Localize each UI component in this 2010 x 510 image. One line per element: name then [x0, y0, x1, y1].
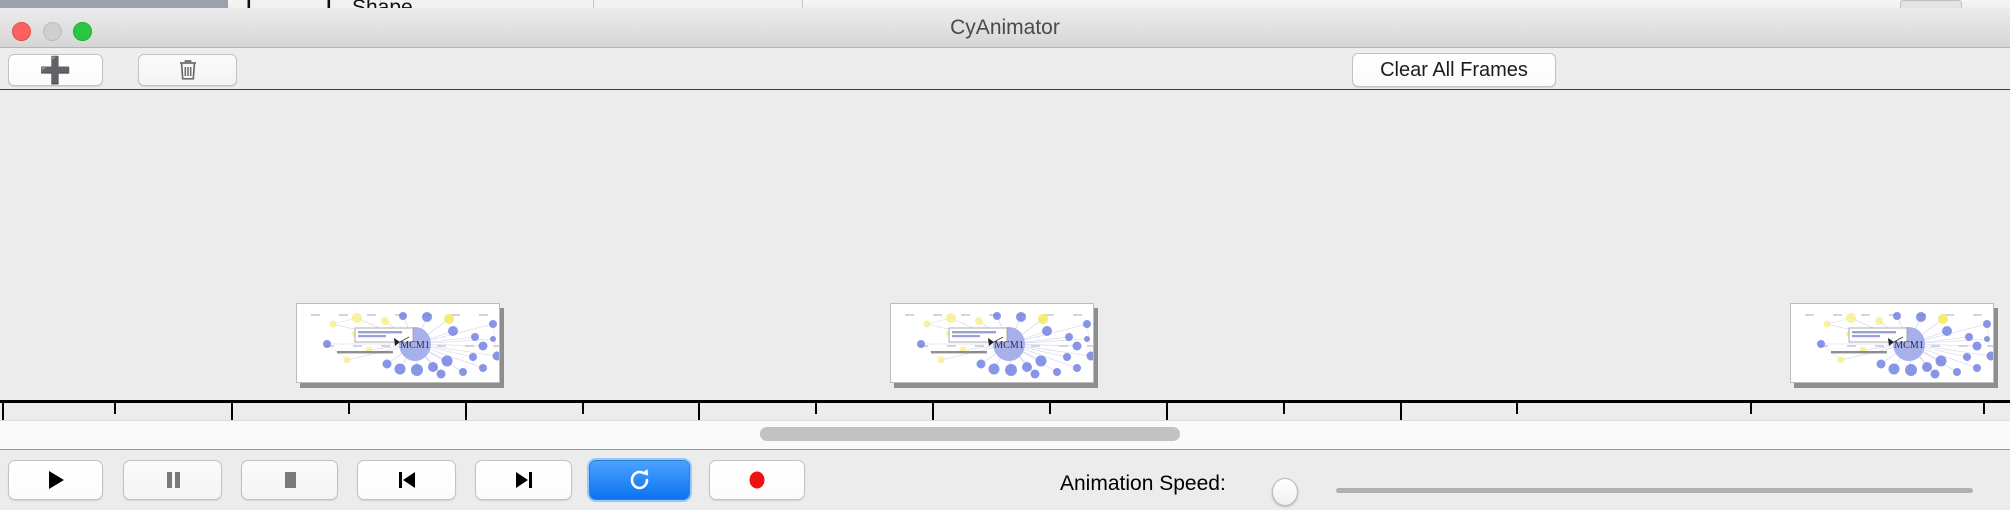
- pause-icon: [162, 468, 184, 492]
- axis-tick-major: [698, 403, 700, 420]
- axis-tick-minor: [582, 403, 584, 414]
- delete-frame-button[interactable]: [138, 54, 237, 86]
- frame-thumbnail-1[interactable]: MCM1: [296, 303, 500, 383]
- window-titlebar: CyAnimator: [0, 8, 2010, 48]
- loop-icon: [628, 467, 652, 493]
- stop-icon: [279, 468, 301, 492]
- frame-thumbnail-3[interactable]: MCM1: [1790, 303, 1994, 383]
- add-frame-button[interactable]: ➕: [8, 54, 103, 86]
- timeline-scrollbar[interactable]: [0, 420, 2010, 450]
- skip-start-button[interactable]: [357, 460, 456, 500]
- animation-speed-slider[interactable]: [1336, 488, 1973, 493]
- axis-tick-minor: [815, 403, 817, 414]
- axis-tick-minor: [1283, 403, 1285, 414]
- playback-control-bar: Animation Speed:: [0, 450, 2010, 510]
- axis-tick-major: [932, 403, 934, 420]
- axis-tick-major: [1400, 403, 1402, 420]
- play-button[interactable]: [8, 460, 103, 500]
- axis-tick-major: [1166, 403, 1168, 420]
- svg-text:MCM1: MCM1: [1894, 340, 1923, 351]
- svg-text:MCM1: MCM1: [994, 340, 1023, 351]
- axis-tick-major: [2, 403, 4, 420]
- axis-tick-minor: [114, 403, 116, 414]
- animation-speed-label: Animation Speed:: [1060, 472, 1226, 496]
- skip-end-icon: [512, 468, 536, 492]
- record-icon: [745, 468, 769, 492]
- skip-start-icon: [395, 468, 419, 492]
- animation-speed-slider-knob[interactable]: [1272, 478, 1298, 506]
- frame-toolbar: ➕ Clear All Frames: [0, 48, 2010, 90]
- axis-tick-minor: [1049, 403, 1051, 414]
- loop-button[interactable]: [589, 460, 690, 500]
- trash-icon: [178, 58, 198, 82]
- play-icon: [45, 468, 67, 492]
- skip-end-button[interactable]: [475, 460, 572, 500]
- thumbnail-canvas: MCM1: [1790, 303, 1994, 383]
- pause-button[interactable]: [123, 460, 222, 500]
- clear-all-frames-button[interactable]: Clear All Frames: [1352, 53, 1556, 87]
- window-title: CyAnimator: [0, 8, 2010, 48]
- stop-button[interactable]: [241, 460, 338, 500]
- plus-icon: ➕: [39, 57, 71, 83]
- frame-thumbnail-2[interactable]: MCM1: [890, 303, 1094, 383]
- axis-tick-minor: [1983, 403, 1985, 414]
- axis-tick-minor: [348, 403, 350, 414]
- scrollbar-thumb[interactable]: [760, 427, 1180, 441]
- timeline-panel[interactable]: MCM1 MCM1 MCM1 12131415161718 Seconds: [0, 90, 2010, 420]
- axis-tick-minor: [1750, 403, 1752, 414]
- thumbnail-canvas: MCM1: [890, 303, 1094, 383]
- axis-baseline: [0, 400, 2010, 403]
- svg-text:MCM1: MCM1: [400, 340, 429, 351]
- thumbnail-canvas: MCM1: [296, 303, 500, 383]
- clear-all-frames-label: Clear All Frames: [1380, 59, 1528, 82]
- record-button[interactable]: [709, 460, 805, 500]
- axis-tick-major: [231, 403, 233, 420]
- axis-tick-major: [465, 403, 467, 420]
- axis-tick-minor: [1516, 403, 1518, 414]
- cyanimator-window: | | Shape CyAnimator ➕ Clear All Frames: [0, 0, 2010, 510]
